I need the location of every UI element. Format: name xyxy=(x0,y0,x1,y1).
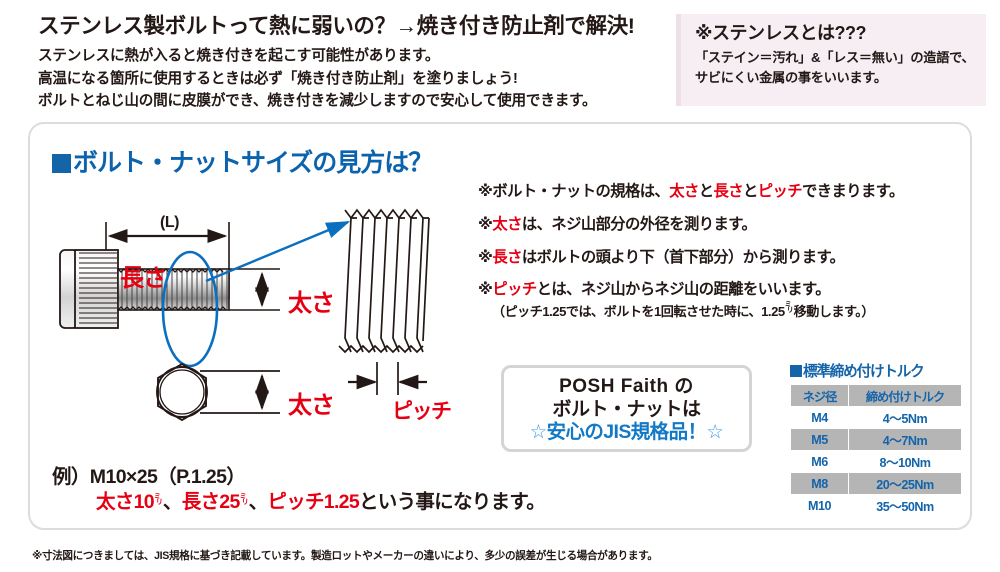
header-block: ステンレス製ボルトって熱に弱いの？→焼き付き防止剤で解決! ステンレスに熱が入る… xyxy=(38,14,648,112)
diagram-label-futosa-bolt: 太さ xyxy=(288,283,334,318)
example-length: 長さ25 xyxy=(182,491,240,513)
bullet-part: ※ xyxy=(478,216,492,233)
bullet-part: ※ボルト・ナットの規格は、 xyxy=(478,183,669,200)
bullet-part-highlight: 長さ xyxy=(492,249,522,266)
example-sep: 、 xyxy=(163,491,182,513)
bullet-item-3: ※長さはボルトの頭より下（首下部分）から測ります。 xyxy=(478,250,978,267)
cell-diameter: M5 xyxy=(791,429,849,451)
example-sep: 、 xyxy=(249,491,268,513)
bullet-part: は、ネジ山部分の外径を測ります。 xyxy=(522,216,756,233)
torque-table: ネジ径 締め付けトルク M4 4〜5Nm M5 4〜7Nm M6 8〜10Nm xyxy=(790,384,962,517)
cell-diameter: M8 xyxy=(791,473,849,495)
sub-note-pre: （ピッチ1.25では、ボルトを1回転させた時に、1.25 xyxy=(492,304,785,319)
unit-millimeter: ミリ xyxy=(240,494,249,507)
bullet-list: ※ボルト・ナットの規格は、太さと長さとピッチできまります。 ※太さは、ネジ山部分… xyxy=(478,184,978,320)
posh-line-3: ☆安心のJIS規格品！☆ xyxy=(504,421,749,445)
stainless-note-box: ※ステンレスとは??? 「ステイン＝汚れ」&「レス＝無い」の造語で、 サビにくい… xyxy=(676,14,986,106)
square-bullet-icon xyxy=(790,365,802,377)
cell-torque: 35〜50Nm xyxy=(849,495,962,517)
bullet-part-highlight: 太さ xyxy=(492,216,522,233)
bullet-part-highlight: ピッチ xyxy=(758,183,802,200)
torque-table-title: 標準締め付けトルク xyxy=(790,360,970,381)
table-row: M8 20〜25Nm xyxy=(791,473,962,495)
header-line: ボルトとねじ山の間に皮膜ができ、焼き付きを減少しますので安心して使用できます。 xyxy=(38,90,648,112)
star-icon-left: ☆ xyxy=(530,421,547,443)
torque-title-label: 標準締め付けトルク xyxy=(803,364,924,380)
posh-line-2: ボルト・ナットは xyxy=(504,398,749,421)
torque-table-block: 標準締め付けトルク ネジ径 締め付けトルク M4 4〜5Nm M5 4〜7Nm xyxy=(790,360,970,517)
table-row: M4 4〜5Nm xyxy=(791,407,962,429)
bullet-part: できまります。 xyxy=(802,183,904,200)
example-block: 例）M10×25（P.1.25） 太さ10ミリ、長さ25ミリ、ピッチ1.25とい… xyxy=(52,466,545,515)
cell-torque: 20〜25Nm xyxy=(849,473,962,495)
cell-diameter: M4 xyxy=(791,407,849,429)
diagram-label-length-L: (L) xyxy=(160,214,179,232)
bullet-part-highlight: ピッチ xyxy=(492,281,536,298)
bullet-part-highlight: 長さ xyxy=(714,183,744,200)
example-thickness: 太さ10 xyxy=(96,491,154,513)
table-row: M10 35〜50Nm xyxy=(791,495,962,517)
bullet-part: はボルトの頭より下（首下部分）から測ります。 xyxy=(522,249,845,266)
unit-bottom: リ xyxy=(785,308,794,315)
example-tail: という事になります。 xyxy=(359,491,545,513)
example-line-1: 例）M10×25（P.1.25） xyxy=(52,466,545,489)
page-title: ステンレス製ボルトって熱に弱いの？→焼き付き防止剤で解決! xyxy=(38,14,648,39)
bullet-item-2: ※太さは、ネジ山部分の外径を測ります。 xyxy=(478,217,978,234)
bullet-part: ※ xyxy=(478,249,492,266)
section-heading: ボルト・ナットサイズの見方は？ xyxy=(52,143,432,179)
header-line: ステンレスに熱が入ると焼き付きを起こす可能性があります。 xyxy=(38,45,648,67)
cell-torque: 4〜7Nm xyxy=(849,429,962,451)
bullet-part: ※ xyxy=(478,281,492,298)
bullet-item-4: ※ピッチとは、ネジ山からネジ山の距離をいいます。 xyxy=(478,282,978,299)
bullet-part: と xyxy=(743,183,758,200)
infographic-page: ステンレス製ボルトって熱に弱いの？→焼き付き防止剤で解決! ステンレスに熱が入る… xyxy=(0,0,1000,572)
diagram-label-futosa-nut: 太さ xyxy=(288,385,334,420)
posh-jis-label: 安心のJIS規格品！ xyxy=(547,421,707,443)
bullet-part: と xyxy=(699,183,714,200)
star-icon-right: ☆ xyxy=(706,421,723,443)
bullet-part-highlight: 太さ xyxy=(669,183,699,200)
sub-note-post: 移動します。） xyxy=(794,304,874,319)
posh-faith-box: POSH Faith の ボルト・ナットは ☆安心のJIS規格品！☆ xyxy=(501,365,752,452)
cell-torque: 8〜10Nm xyxy=(849,451,962,473)
note-line: 「ステイン＝汚れ」&「レス＝無い」の造語で、 xyxy=(695,48,972,69)
unit-millimeter: ミリ xyxy=(785,302,794,315)
unit-millimeter: ミリ xyxy=(154,494,163,507)
table-header-row: ネジ径 締め付けトルク xyxy=(791,385,962,407)
unit-bottom: リ xyxy=(240,500,249,507)
note-title: ※ステンレスとは??? xyxy=(695,23,972,45)
cell-diameter: M10 xyxy=(791,495,849,517)
diagram-label-pitch: ピッチ xyxy=(392,395,451,425)
example-pitch: ピッチ1.25 xyxy=(267,491,359,513)
column-header-torque: 締め付けトルク xyxy=(849,385,962,407)
bullet-part: とは、ネジ山からネジ山の距離をいいます。 xyxy=(537,281,830,298)
bullet-sub-note: （ピッチ1.25では、ボルトを1回転させた時に、1.25ミリ移動します。） xyxy=(492,301,978,320)
example-line-2: 太さ10ミリ、長さ25ミリ、ピッチ1.25という事になります。 xyxy=(96,491,545,514)
cell-diameter: M6 xyxy=(791,451,849,473)
diagram-label-nagasa: 長さ xyxy=(120,258,166,293)
note-body: 「ステイン＝汚れ」&「レス＝無い」の造語で、 サビにくい金属の事をいいます。 xyxy=(695,48,972,89)
header-line: 高温になる箇所に使用するときは必ず「焼き付き防止剤」を塗りましょう! xyxy=(38,68,648,90)
section-heading-label: ボルト・ナットサイズの見方は？ xyxy=(73,149,432,177)
posh-line-1: POSH Faith の xyxy=(504,375,749,398)
square-bullet-icon xyxy=(52,154,71,173)
header-description: ステンレスに熱が入ると焼き付きを起こす可能性があります。 高温になる箇所に使用す… xyxy=(38,45,648,112)
column-header-diameter: ネジ径 xyxy=(791,385,849,407)
footer-disclaimer: ※寸法図につきましては、JIS規格に基づき記載しています。製造ロットやメーカーの… xyxy=(32,548,658,563)
table-row: M6 8〜10Nm xyxy=(791,451,962,473)
bullet-item-1: ※ボルト・ナットの規格は、太さと長さとピッチできまります。 xyxy=(478,184,978,201)
note-line: サビにくい金属の事をいいます。 xyxy=(695,68,972,89)
unit-bottom: リ xyxy=(154,500,163,507)
table-row: M5 4〜7Nm xyxy=(791,429,962,451)
cell-torque: 4〜5Nm xyxy=(849,407,962,429)
